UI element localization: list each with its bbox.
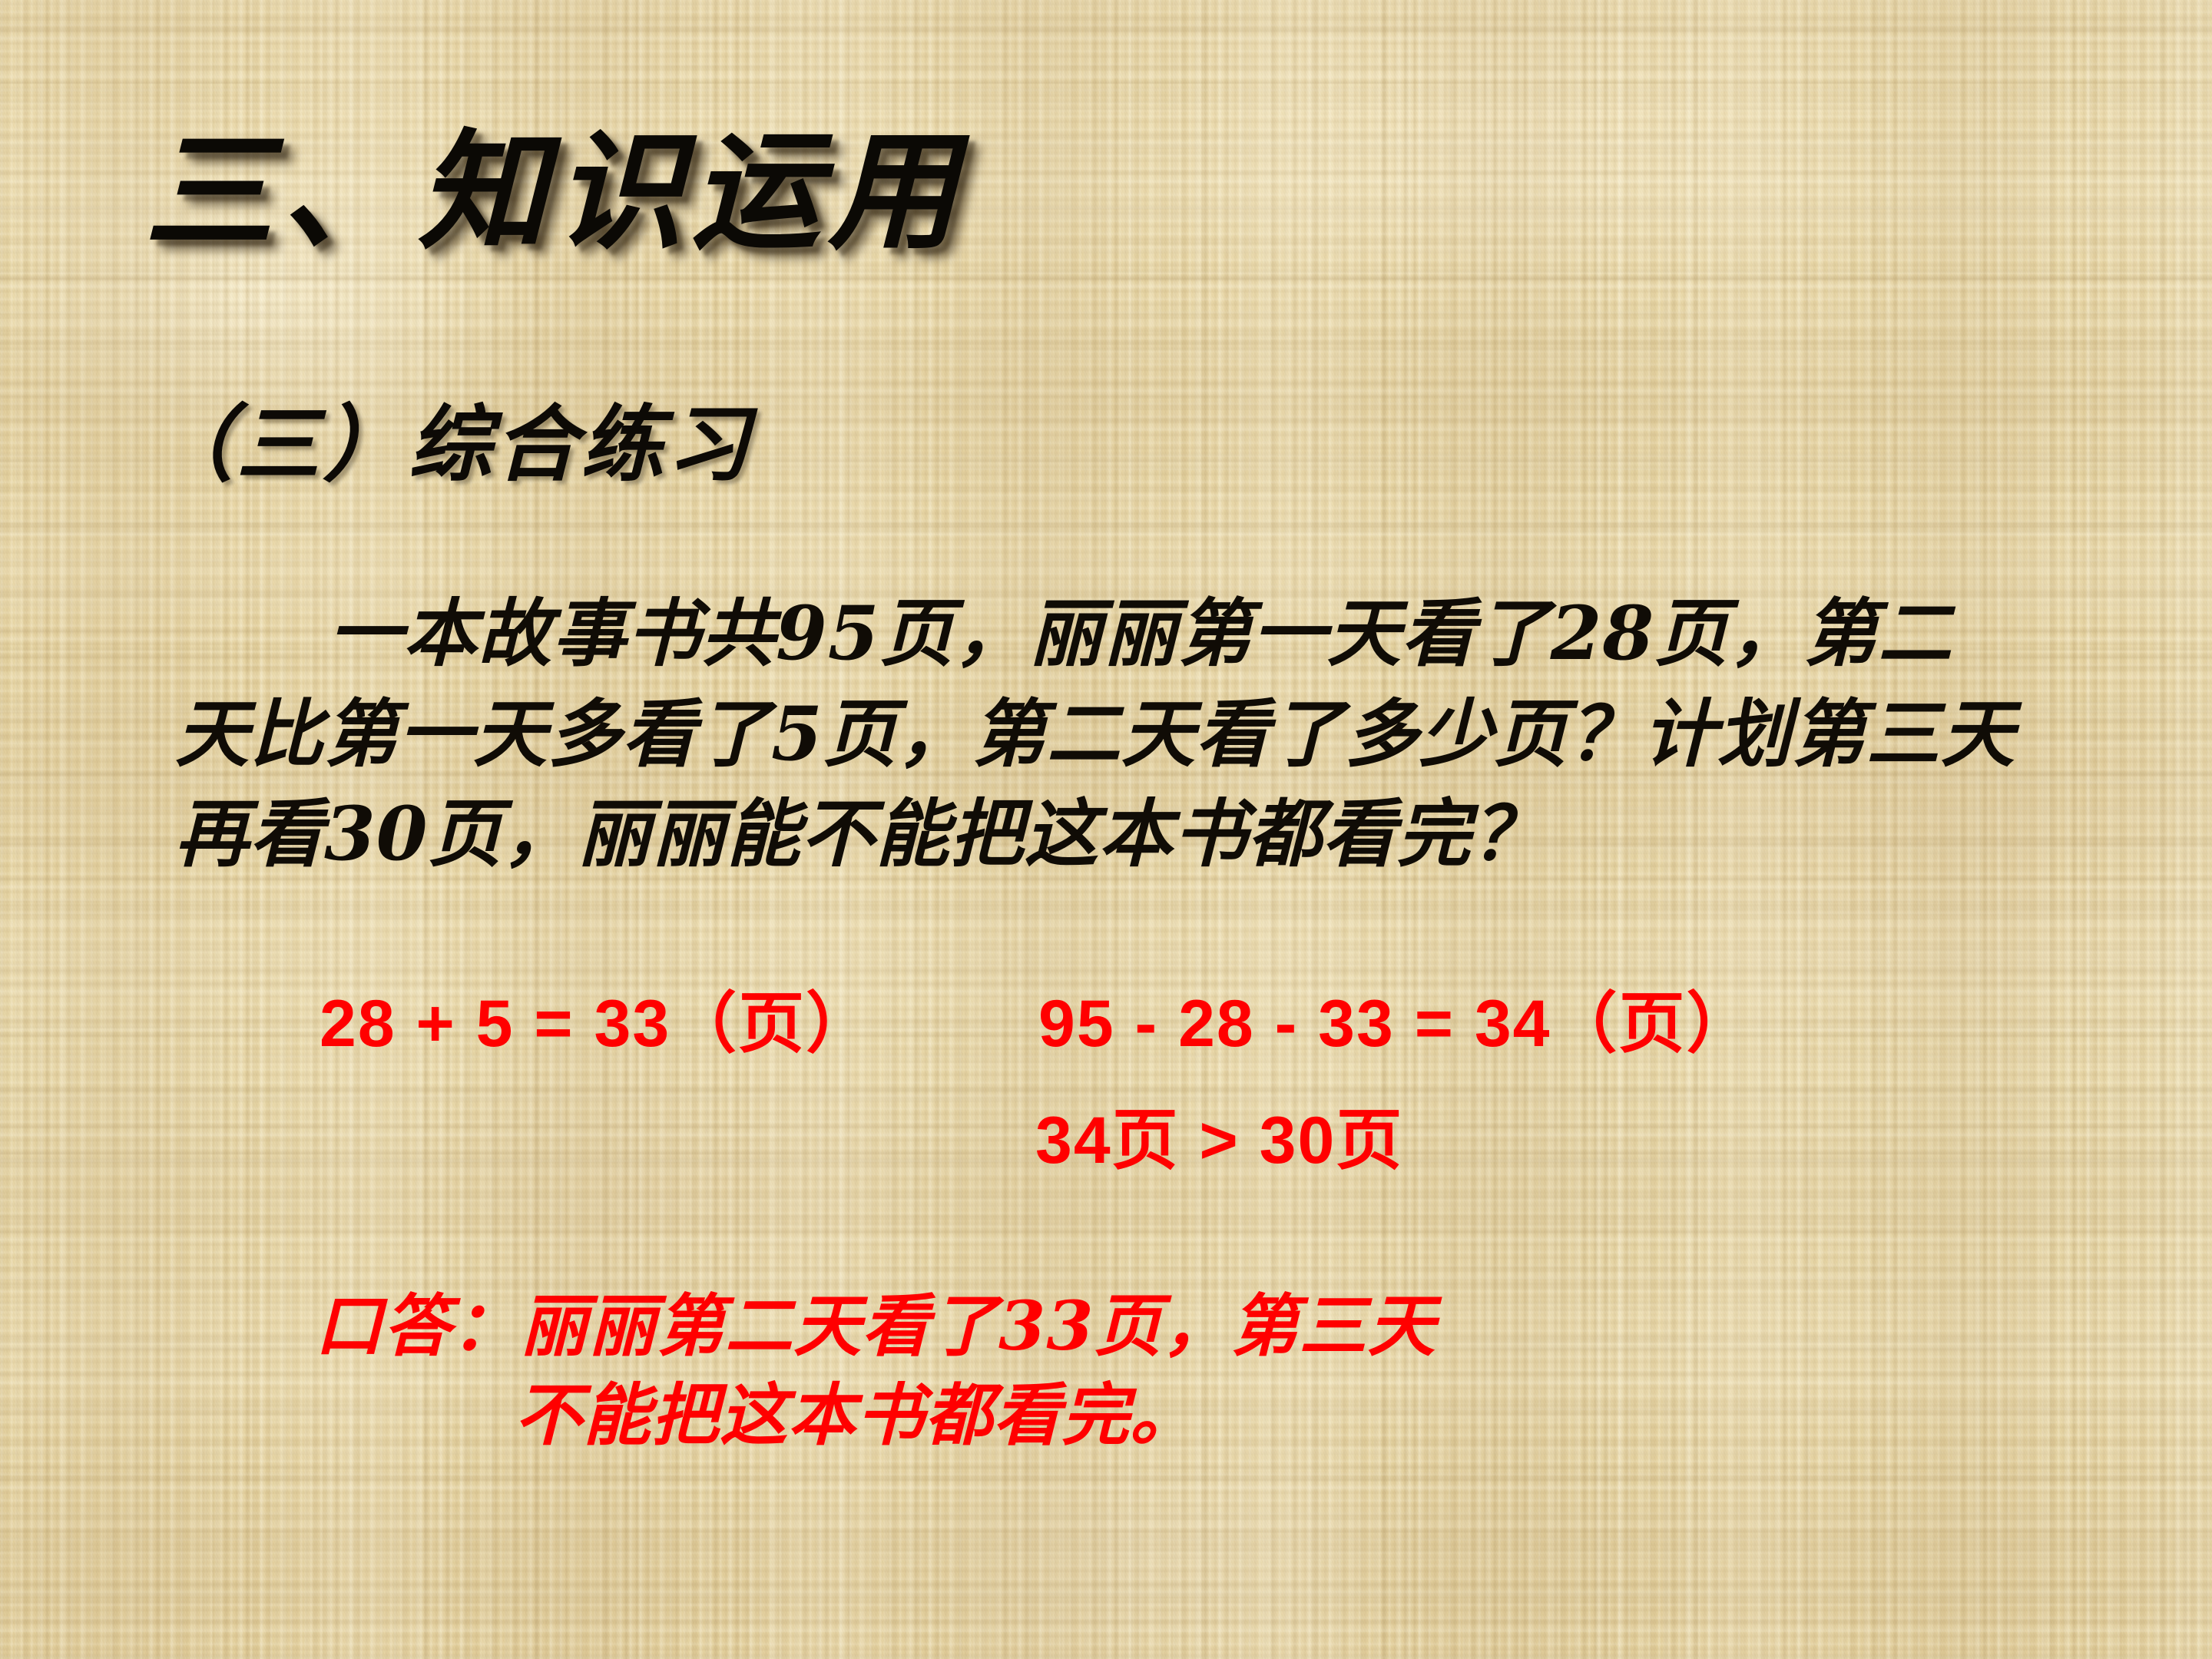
- comparison-statement: 34页 > 30页: [1035, 1108, 1403, 1174]
- word-problem-text: 一本故事书共95页，丽丽第一天看了28页，第二天比第一天多看了5页，第二天看了多…: [175, 584, 2018, 885]
- slide-content: 三、知识运用 （三）综合练习 一本故事书共95页，丽丽第一天看了28页，第二天比…: [0, 0, 2212, 1659]
- subsection-heading: （三）综合练习: [151, 399, 753, 491]
- slide: 三、知识运用 （三）综合练习 一本故事书共95页，丽丽第一天看了28页，第二天比…: [0, 0, 2212, 1659]
- spoken-answer-line-1: 口答：丽丽第二天看了33页，第三天: [315, 1286, 1435, 1366]
- spoken-answer-line-2: 不能把这本书都看完。: [315, 1370, 1928, 1459]
- equation-first-day-plus-five: 28 + 5 = 33（页）: [320, 991, 873, 1057]
- equation-remaining-pages: 95 - 28 - 33 = 34（页）: [1038, 991, 1754, 1057]
- section-heading: 三、知识运用: [144, 123, 965, 260]
- spoken-answer: 口答：丽丽第二天看了33页，第三天 不能把这本书都看完。: [315, 1281, 1928, 1459]
